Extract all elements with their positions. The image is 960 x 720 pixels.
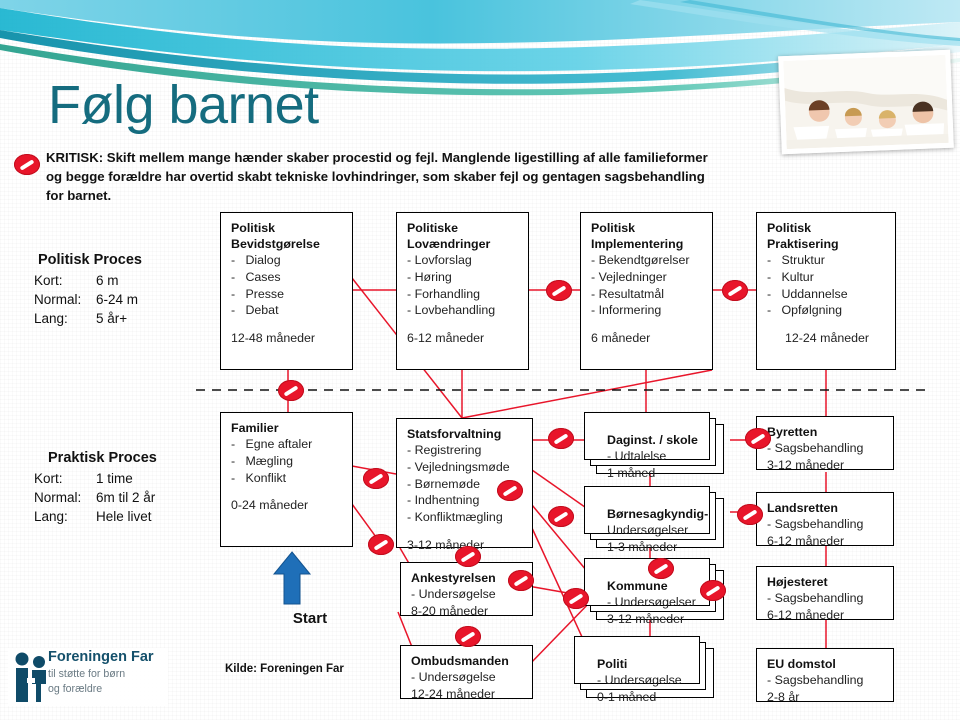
- node-title: Politisk: [591, 220, 704, 236]
- node-item: - Debat: [231, 302, 344, 319]
- node-duration: 0-1 måned: [597, 689, 705, 706]
- node-item: - Udtalelse: [607, 448, 715, 465]
- source-note: Kilde: Foreningen Far: [225, 663, 344, 675]
- node-item: - Undersøgelse: [597, 672, 705, 689]
- node-title: Bevidstgørelse: [231, 236, 344, 252]
- node-item: - Lovbehandling: [407, 302, 520, 319]
- node-duration: 2-8 år: [767, 689, 885, 706]
- node-politiske-lovaendringer[interactable]: PolitiskeLovændringer- Lovforslag- Hørin…: [396, 212, 529, 370]
- node-duration: 0-24 måneder: [231, 497, 344, 514]
- node-item: - Resultatmål: [591, 286, 704, 303]
- stop-icon-landsretten: [737, 504, 763, 525]
- node-duration: 12-48 måneder: [231, 330, 344, 347]
- node-item: - Lovforslag: [407, 252, 520, 269]
- node-item: - Registrering: [407, 442, 524, 459]
- stop-icon-divider: [278, 380, 304, 401]
- node-daginst-skole[interactable]: Daginst. / skole- Udtalelse1 måned: [596, 424, 724, 474]
- stop-icon-impl-prakt: [722, 280, 748, 301]
- node-title: Lovændringer: [407, 236, 520, 252]
- node-duration: 6-12 måneder: [767, 607, 885, 624]
- node-item: - Kultur: [767, 269, 887, 286]
- node-title: Daginst. / skole: [607, 432, 715, 448]
- node-boernesagkyndig[interactable]: Børnesagkyndig-Undersøgelser1-3 måneder: [596, 498, 724, 548]
- node-byretten[interactable]: Byretten- Sagsbehandling3-12 måneder: [756, 416, 894, 470]
- node-title: Ombudsmanden: [411, 653, 524, 669]
- node-title: Statsforvaltning: [407, 426, 524, 442]
- node-familier[interactable]: Familier- Egne aftaler- Mægling- Konflik…: [220, 412, 353, 547]
- node-item: - Opfølgning: [767, 302, 887, 319]
- stop-icon-lov-impl: [546, 280, 572, 301]
- stop-icon-familier-anke: [368, 534, 394, 555]
- logo-tagline-1: til støtte for børn: [48, 668, 154, 681]
- node-landsretten[interactable]: Landsretten- Sagsbehandling6-12 måneder: [756, 492, 894, 546]
- node-item: - Dialog: [231, 252, 344, 269]
- stop-icon-stats-boern: [548, 506, 574, 527]
- stop-icon-critical: [14, 154, 40, 175]
- node-item: - Vejledninger: [591, 269, 704, 286]
- node-title: Politisk: [767, 220, 887, 236]
- node-item: - Undersøgelse: [411, 586, 524, 603]
- node-title: Byretten: [767, 424, 885, 440]
- node-item: - Cases: [231, 269, 344, 286]
- node-item: - Sagsbehandling: [767, 440, 885, 457]
- node-spacer: [231, 319, 344, 330]
- node-item: - Undersøgelse: [411, 669, 524, 686]
- node-hoejesteret[interactable]: Højesteret- Sagsbehandling6-12 måneder: [756, 566, 894, 620]
- stop-icon-ombuds-top: [455, 626, 481, 647]
- node-item: - Uddannelse: [767, 286, 887, 303]
- node-item: - Mægling: [231, 453, 344, 470]
- node-title: Ankestyrelsen: [411, 570, 524, 586]
- node-duration: 6 måneder: [591, 330, 704, 347]
- node-item: - Vejledningsmøde: [407, 459, 524, 476]
- node-item: - Sagsbehandling: [767, 672, 885, 689]
- node-politisk-bevidstgoerelse[interactable]: PolitiskBevidstgørelse- Dialog- Cases- P…: [220, 212, 353, 370]
- node-duration: 6-12 måneder: [767, 533, 885, 550]
- node-politisk-praktisering[interactable]: PolitiskPraktisering- Struktur- Kultur- …: [756, 212, 896, 370]
- logo-text: Foreningen Far til støtte for børn og fo…: [48, 650, 154, 696]
- node-title: Praktisering: [767, 236, 887, 252]
- node-item: - Informering: [591, 302, 704, 319]
- node-title: EU domstol: [767, 656, 885, 672]
- node-title: Politisk: [231, 220, 344, 236]
- node-item: - Konflikt: [231, 470, 344, 487]
- stop-icon-kommune-right: [700, 580, 726, 601]
- node-eu-domstol[interactable]: EU domstol- Sagsbehandling2-8 år: [756, 648, 894, 702]
- stop-icon-bar: [20, 159, 35, 170]
- node-item: - Undersøgelser: [607, 594, 715, 611]
- node-title: Højesteret: [767, 574, 885, 590]
- node-duration: 8-20 måneder: [411, 603, 524, 620]
- node-spacer: [591, 319, 704, 330]
- logo-name: Foreningen Far: [48, 650, 154, 666]
- node-spacer: [767, 319, 887, 330]
- node-item: - Forhandling: [407, 286, 520, 303]
- node-duration: 3-12 måneder: [767, 457, 885, 474]
- node-title: Familier: [231, 420, 344, 436]
- node-spacer: [407, 319, 520, 330]
- node-spacer: [407, 526, 524, 537]
- node-item: - Sagsbehandling: [767, 590, 885, 607]
- node-spacer: [231, 486, 344, 497]
- node-title: Implementering: [591, 236, 704, 252]
- node-item: - Sagsbehandling: [767, 516, 885, 533]
- node-title: Kommune: [607, 578, 715, 594]
- stop-icon-stats-inner: [497, 480, 523, 501]
- node-item: Undersøgelser: [607, 522, 715, 539]
- node-duration: 12-24 måneder: [767, 330, 887, 347]
- node-item: - Høring: [407, 269, 520, 286]
- node-title: Politi: [597, 656, 705, 672]
- stop-icon-byretten: [745, 428, 771, 449]
- node-title: Landsretten: [767, 500, 885, 516]
- node-duration: 1 måned: [607, 465, 715, 482]
- node-title: Børnesagkyndig-: [607, 506, 715, 522]
- node-duration: 12-24 måneder: [411, 686, 524, 703]
- node-item: - Konfliktmægling: [407, 509, 524, 526]
- node-ombudsmanden[interactable]: Ombudsmanden- Undersøgelse12-24 måneder: [400, 645, 533, 699]
- stop-icon-anke-right: [508, 570, 534, 591]
- node-duration: 6-12 måneder: [407, 330, 520, 347]
- node-politi[interactable]: Politi- Undersøgelse0-1 måned: [586, 648, 714, 698]
- node-item: - Egne aftaler: [231, 436, 344, 453]
- node-politisk-implementering[interactable]: PolitiskImplementering- Bekendtgørelser-…: [580, 212, 713, 370]
- start-label: Start: [265, 610, 355, 627]
- stop-icon-stats-daginst: [548, 428, 574, 449]
- stop-icon-kommune-top: [648, 558, 674, 579]
- start-arrow-icon: [272, 550, 312, 606]
- node-duration: 1-3 måneder: [607, 539, 715, 556]
- logo-tagline-2: og forældre: [48, 683, 154, 696]
- node-item: - Bekendtgørelser: [591, 252, 704, 269]
- node-duration: 3-12 måneder: [607, 611, 715, 628]
- stop-icon-kommune-left: [563, 588, 589, 609]
- stop-icon-familier-stats: [363, 468, 389, 489]
- node-item: - Presse: [231, 286, 344, 303]
- stop-icon-anke-top: [455, 546, 481, 567]
- node-title: Politiske: [407, 220, 520, 236]
- node-item: - Struktur: [767, 252, 887, 269]
